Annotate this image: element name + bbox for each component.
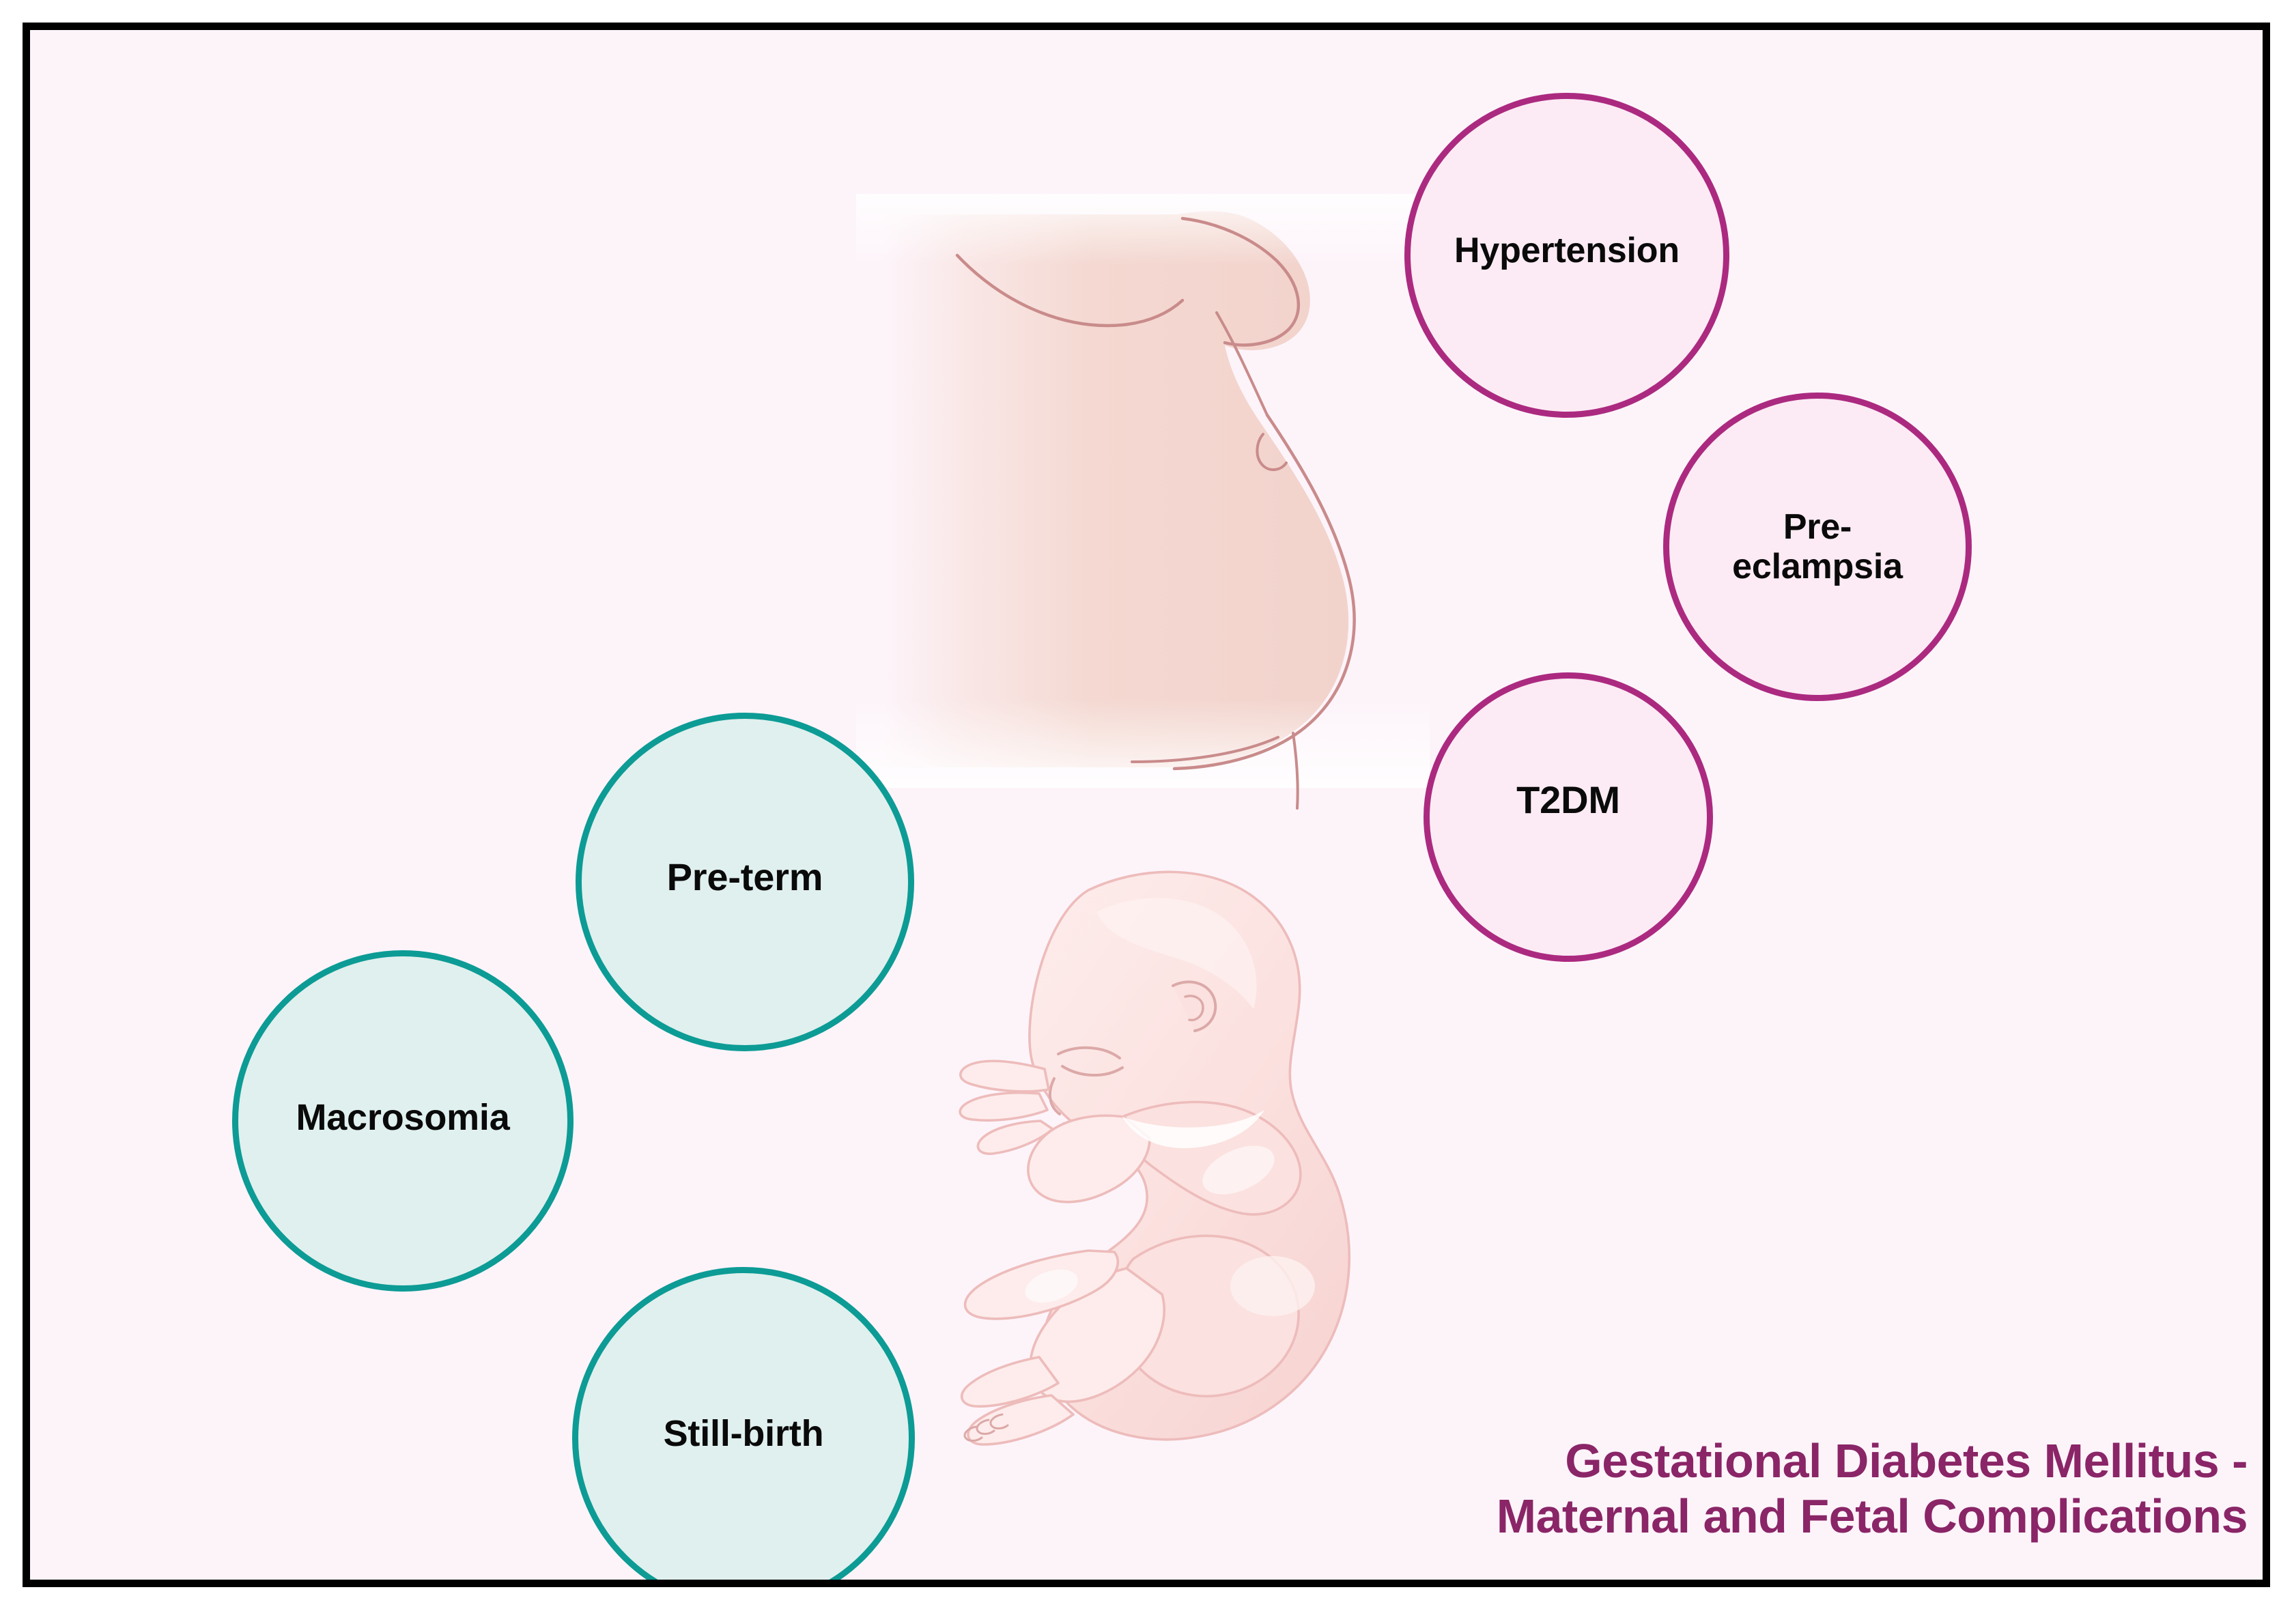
poster-title-line-1: Gestational Diabetes Mellitus - [1196,1434,2248,1489]
bubble-preterm[interactable]: Pre-term [576,713,914,1051]
bubble-label-t2dm: T2DM [1516,779,1620,822]
bubble-stillbirth[interactable]: Still-birth [572,1267,915,1587]
bubble-label-stillbirth: Still-birth [664,1413,824,1454]
bubble-label-preeclampsia: Pre- eclampsia [1732,507,1903,586]
bubble-hypertension[interactable]: Hypertension [1404,93,1729,418]
fetus-illustration [918,849,1409,1477]
pregnant-belly-illustration [856,167,1430,849]
poster-title: Gestational Diabetes Mellitus - Maternal… [1196,1434,2248,1544]
bubble-t2dm[interactable]: T2DM [1424,672,1713,962]
bubble-label-preterm: Pre-term [667,856,823,899]
bubble-preeclampsia[interactable]: Pre- eclampsia [1663,393,1972,701]
bubble-label-macrosomia: Macrosomia [296,1097,509,1138]
bubble-label-hypertension: Hypertension [1454,231,1680,270]
poster-title-line-2: Maternal and Fetal Complications [1196,1489,2248,1544]
poster-frame: Hypertension Pre- eclampsia T2DM Pre-ter… [23,23,2270,1587]
bubble-macrosomia[interactable]: Macrosomia [232,950,573,1292]
infographic-canvas: Hypertension Pre- eclampsia T2DM Pre-ter… [0,0,2294,1624]
